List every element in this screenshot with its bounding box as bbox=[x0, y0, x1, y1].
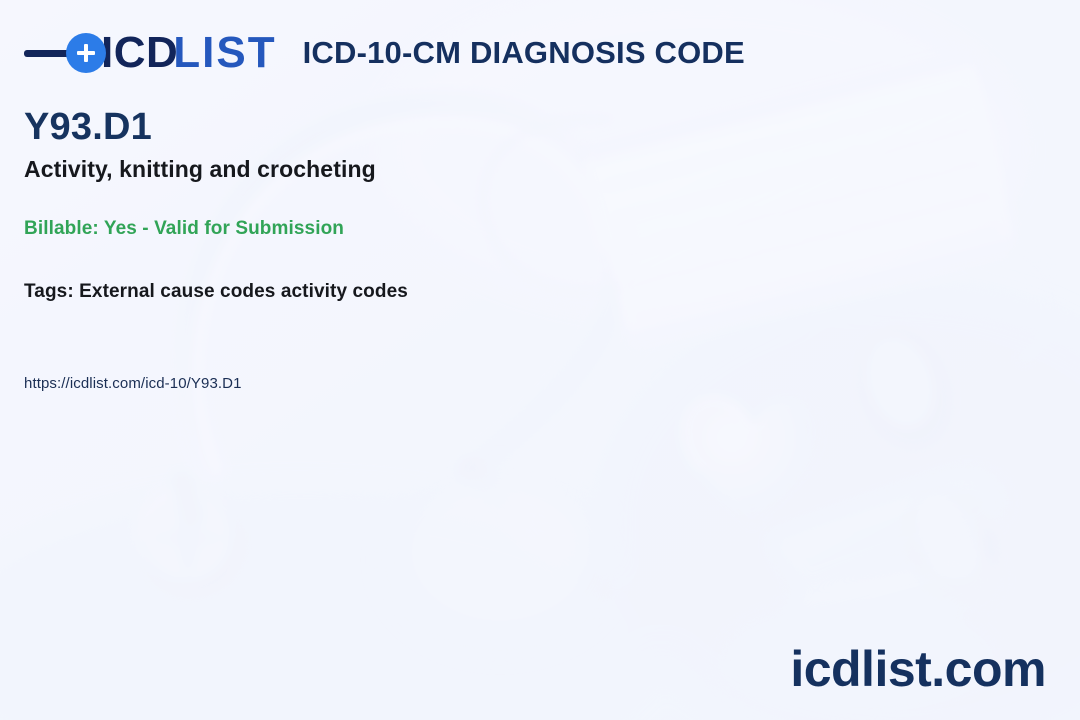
page-title: ICD-10-CM DIAGNOSIS CODE bbox=[303, 35, 745, 71]
header: ICD LIST ICD-10-CM DIAGNOSIS CODE bbox=[24, 26, 745, 80]
icdlist-logo[interactable]: ICD LIST bbox=[24, 26, 277, 80]
dash-icon bbox=[24, 50, 70, 57]
icd-code-card: ICD LIST ICD-10-CM DIAGNOSIS CODE Y93.D1… bbox=[0, 0, 1080, 720]
source-url[interactable]: https://icdlist.com/icd-10/Y93.D1 bbox=[24, 375, 408, 392]
code-details: Y93.D1 Activity, knitting and crocheting… bbox=[24, 108, 408, 392]
diagnosis-description: Activity, knitting and crocheting bbox=[24, 156, 408, 183]
billable-status-badge: Billable: Yes - Valid for Submission bbox=[24, 218, 408, 240]
plus-circle-icon bbox=[66, 33, 106, 73]
logo-word-secondary: LIST bbox=[173, 31, 276, 75]
tags-line: Tags: External cause codes activity code… bbox=[24, 281, 408, 303]
diagnosis-code: Y93.D1 bbox=[24, 108, 408, 148]
site-watermark: icdlist.com bbox=[790, 644, 1046, 694]
logo-word-primary: ICD bbox=[101, 31, 178, 75]
